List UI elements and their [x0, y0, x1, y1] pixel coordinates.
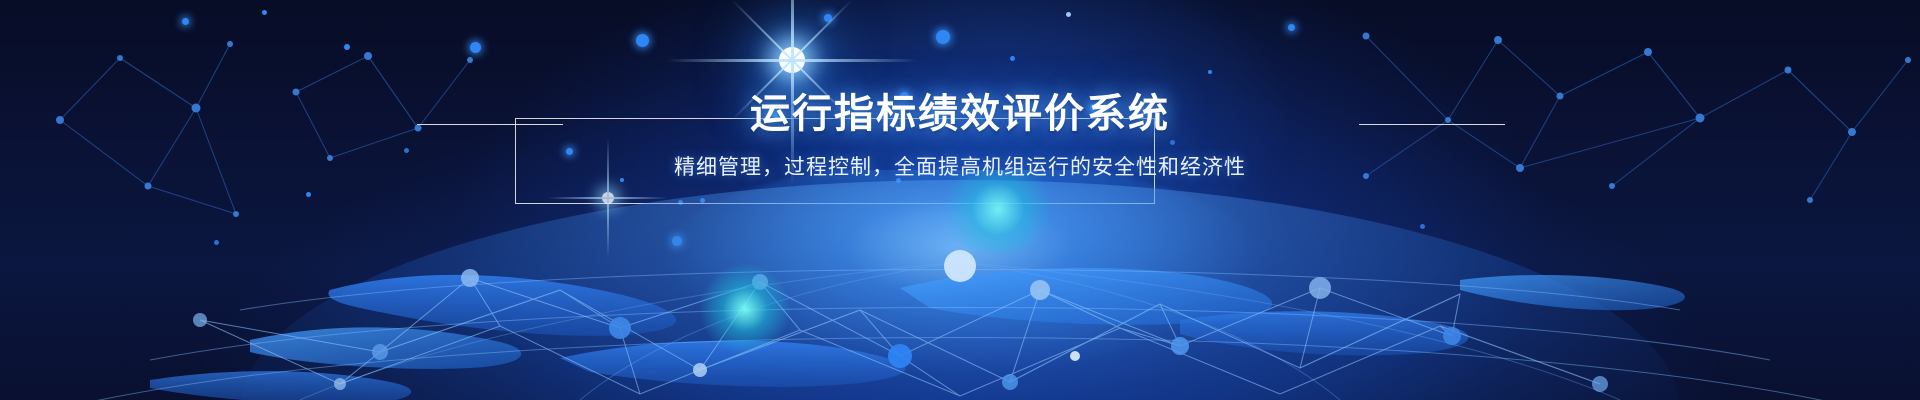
particle-dot [470, 42, 481, 53]
particle-dot [1066, 12, 1071, 17]
particle-dot [344, 44, 350, 50]
particle-dot [182, 18, 189, 25]
hero-banner: 运行指标绩效评价系统 精细管理，过程控制，全面提高机组运行的安全性和经济性 [0, 0, 1920, 400]
page-subtitle: 精细管理，过程控制，全面提高机组运行的安全性和经济性 [0, 152, 1920, 184]
network-globe-graphic [0, 170, 1920, 400]
particle-dot [1208, 70, 1212, 74]
particle-dot [262, 10, 267, 15]
particle-dot [936, 30, 950, 44]
particle-dot [824, 14, 832, 22]
particle-dot [1288, 24, 1295, 31]
particle-dot [636, 34, 649, 47]
particle-dot [1010, 56, 1015, 61]
accent-glow-spot [700, 264, 790, 354]
page-title: 运行指标绩效评价系统 [0, 86, 1920, 142]
